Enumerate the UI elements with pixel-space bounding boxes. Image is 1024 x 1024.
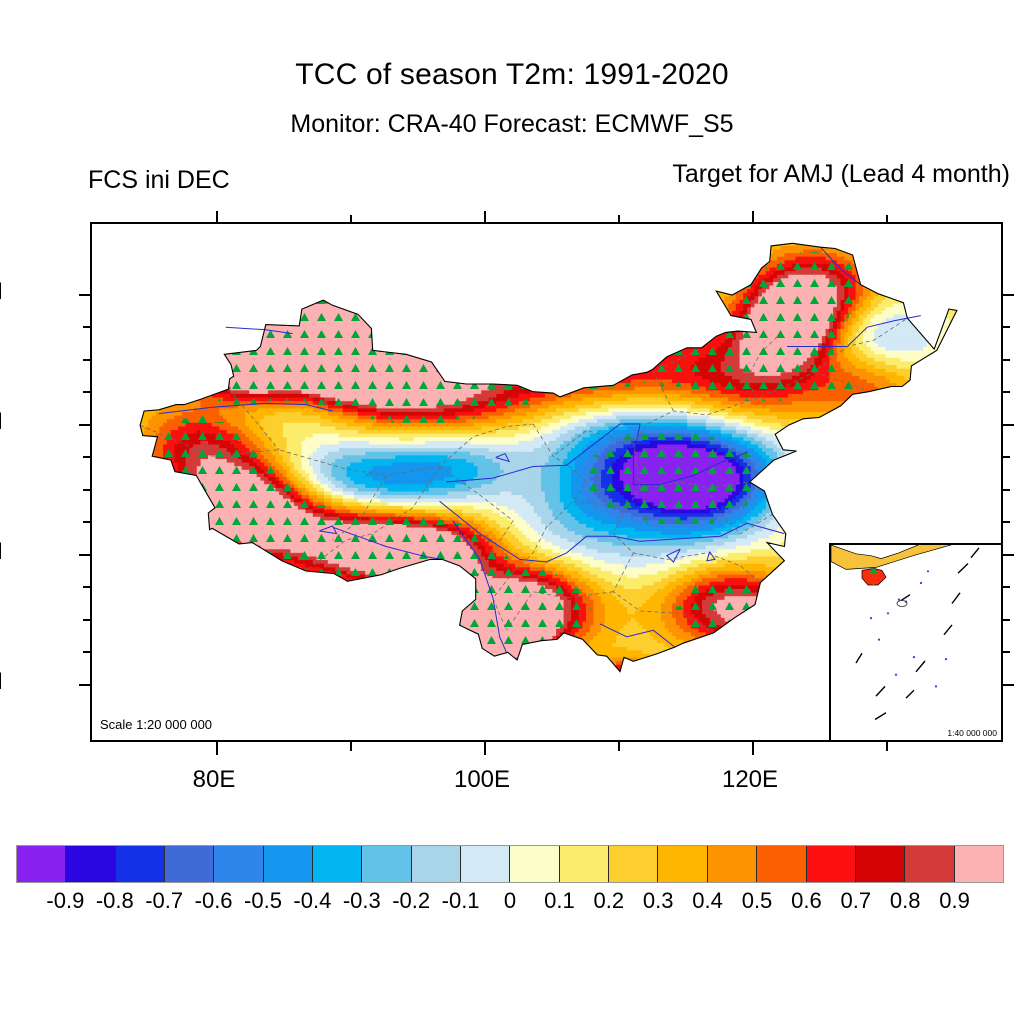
fcs-init-label: FCS ini DEC (88, 166, 230, 195)
ytick-label-40n: 40N (0, 408, 3, 436)
colorbar-tick-label: -0.6 (195, 888, 233, 914)
ytick-right (1001, 391, 1010, 393)
ytick-label-30n: 30N (0, 538, 3, 566)
xtick-top (350, 215, 352, 224)
south-china-sea-inset[interactable]: 1:40 000 000 (829, 543, 1003, 742)
colorbar-segment (658, 846, 707, 882)
colorbar-tick-label: -0.3 (343, 888, 381, 914)
colorbar-segment (66, 846, 115, 882)
colorbar-tick-label: 0.7 (841, 888, 872, 914)
colorbar-tick-label: -0.9 (46, 888, 84, 914)
colorbar-tick-label: 0.6 (791, 888, 822, 914)
ytick-right (1001, 489, 1010, 491)
ytick-right (1001, 359, 1010, 361)
colorbar-segment (116, 846, 165, 882)
colorbar-tick-label: 0.2 (594, 888, 625, 914)
colorbar-segment (708, 846, 757, 882)
ytick-right (1001, 326, 1010, 328)
colorbar-tick-label: -0.2 (392, 888, 430, 914)
colorbar-segment (214, 846, 263, 882)
colorbar-tick-label: 0.9 (939, 888, 970, 914)
xtick-top (886, 215, 888, 224)
colorbar-tick-label: -0.5 (244, 888, 282, 914)
ytick-minor (83, 456, 92, 458)
colorbar-segment (17, 846, 66, 882)
colorbar-segment (757, 846, 806, 882)
colorbar-tick-label: -0.8 (96, 888, 134, 914)
ytick-right (1001, 456, 1010, 458)
xtick-label-100e: 100E (454, 766, 510, 794)
xtick-top (618, 215, 620, 224)
xtick-label-80e: 80E (193, 766, 236, 794)
colorbar-segment (807, 846, 856, 882)
colorbar-segment (560, 846, 609, 882)
inset-scale-label: 1:40 000 000 (947, 728, 997, 738)
colorbar-segment (609, 846, 658, 882)
ytick-minor (83, 359, 92, 361)
colorbar-segment (955, 846, 1003, 882)
ytick-minor (83, 651, 92, 653)
ytick-label-50n: 50N (0, 278, 3, 306)
map-plot-area[interactable]: Scale 1:20 000 000 1:40 000 000 (90, 222, 1003, 742)
colorbar-segment (510, 846, 559, 882)
colorbar-tick-label: 0.8 (890, 888, 921, 914)
colorbar-tick-labels: -0.9-0.8-0.7-0.6-0.5-0.4-0.3-0.2-0.100.1… (16, 888, 1004, 918)
ytick-minor (83, 586, 92, 588)
colorbar-tick-label: -0.1 (442, 888, 480, 914)
xtick-top (484, 211, 486, 224)
colorbar[interactable] (16, 845, 1004, 883)
ytick-minor (83, 391, 92, 393)
ytick-right (1001, 424, 1014, 426)
xtick-top (216, 211, 218, 224)
ytick-minor (83, 619, 92, 621)
colorbar-segment (165, 846, 214, 882)
colorbar-segment (856, 846, 905, 882)
xtick-120e (752, 740, 754, 755)
colorbar-tick-label: -0.4 (293, 888, 331, 914)
xtick-label-120e: 120E (722, 766, 778, 794)
colorbar-segment (313, 846, 362, 882)
colorbar-segment (362, 846, 411, 882)
ytick-right (1001, 294, 1014, 296)
xtick-100e (484, 740, 486, 755)
colorbar-segment (461, 846, 510, 882)
ytick-minor (83, 326, 92, 328)
ytick-20n (79, 684, 92, 686)
xtick-minor (618, 740, 620, 751)
colorbar-tick-label: 0.5 (742, 888, 773, 914)
subtitle: Monitor: CRA-40 Forecast: ECMWF_S5 (0, 110, 1024, 139)
colorbar-tick-label: 0 (504, 888, 516, 914)
xtick-top (752, 211, 754, 224)
colorbar-tick-label: 0.3 (643, 888, 674, 914)
colorbar-tick-label: -0.7 (145, 888, 183, 914)
target-label: Target for AMJ (Lead 4 month) (672, 160, 1010, 189)
ytick-right (1001, 521, 1010, 523)
ytick-50n (79, 294, 92, 296)
colorbar-tick-label: 0.4 (692, 888, 723, 914)
map-scale-label: Scale 1:20 000 000 (100, 717, 212, 732)
ytick-minor (83, 489, 92, 491)
colorbar-tick-label: 0.1 (544, 888, 575, 914)
colorbar-segment (264, 846, 313, 882)
ytick-label-20n: 20N (0, 668, 3, 696)
inset-map (831, 545, 1001, 740)
ytick-40n (79, 424, 92, 426)
xtick-minor (350, 740, 352, 751)
xtick-80e (216, 740, 218, 755)
ytick-30n (79, 554, 92, 556)
page-title: TCC of season T2m: 1991-2020 (0, 58, 1024, 92)
ytick-minor (83, 521, 92, 523)
colorbar-segment (412, 846, 461, 882)
colorbar-segment (905, 846, 954, 882)
